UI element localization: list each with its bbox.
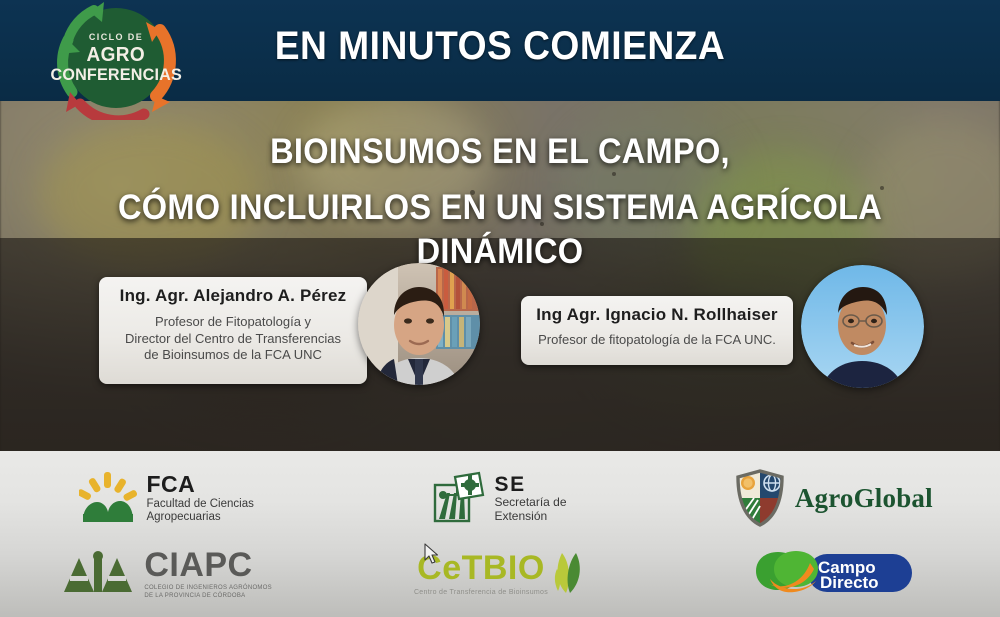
sponsor-secretaria-extension: SE Secretaría de Extensión bbox=[333, 462, 666, 534]
agro-conferencias-logo: CICLO DE AGRO CONFERENCIAS bbox=[28, 0, 204, 120]
svg-text:Directo: Directo bbox=[820, 573, 879, 592]
se-name: SE bbox=[494, 473, 566, 497]
ciapc-name: CIAPC bbox=[144, 546, 272, 584]
speaker-2-role: Profesor de fitopatología de la FCA UNC. bbox=[521, 332, 793, 349]
mouse-cursor bbox=[424, 543, 440, 570]
speaker-1-role-line-2: Director del Centro de Transferencias bbox=[99, 331, 367, 348]
fca-name: FCA bbox=[146, 472, 253, 498]
se-field-puzzle-icon bbox=[433, 471, 485, 525]
sponsor-cetbio: CeTBIO Centro de Transferencia de Bioins… bbox=[333, 542, 666, 604]
arrow-cursor-icon bbox=[424, 543, 440, 565]
speaker-2-avatar bbox=[801, 265, 924, 388]
speaker-1-role: Profesor de Fitopatología y Director del… bbox=[99, 314, 367, 364]
speaker-1-name: Ing. Agr. Alejandro A. Pérez bbox=[99, 286, 367, 306]
ciapc-triangles-icon bbox=[61, 550, 135, 596]
sponsor-campo-directo: Campo Directo bbox=[667, 542, 1000, 604]
speaker-2-name: Ing Agr. Ignacio N. Rollhaiser bbox=[521, 305, 793, 325]
speaker-1-role-line-3: de Bioinsumos de la FCA UNC bbox=[99, 347, 367, 364]
cetbio-sub-1: Centro de Transferencia de Bioinsumos bbox=[414, 589, 548, 597]
title-line-2: CÓMO INCLUIRLOS EN UN SISTEMA AGRÍCOLA D… bbox=[35, 186, 965, 274]
ciapc-sub-1: COLEGIO DE INGENIEROS AGRÓNOMOS bbox=[144, 585, 272, 592]
title-line-1: BIOINSUMOS EN EL CAMPO, bbox=[35, 130, 965, 174]
campo-directo-logo-icon: Campo Directo bbox=[750, 549, 916, 597]
se-sub-1: Secretaría de bbox=[494, 496, 566, 509]
fca-sun-hills-icon bbox=[79, 470, 137, 526]
ciapc-sub-2: DE LA PROVINCIA DE CÓRDOBA bbox=[144, 593, 272, 600]
sponsor-fca: FCA Facultad de Ciencias Agropecuarias bbox=[0, 462, 333, 534]
cetbio-leaf-icon bbox=[552, 551, 586, 595]
speaker-card-1: Ing. Agr. Alejandro A. Pérez Profesor de… bbox=[99, 277, 367, 384]
agroglobal-name: AgroGlobal bbox=[795, 483, 933, 513]
logo-circle-arrows-icon bbox=[28, 0, 204, 120]
sponsor-ciapc: CIAPC COLEGIO DE INGENIEROS AGRÓNOMOS DE… bbox=[0, 542, 333, 604]
fca-sub-2: Agropecuarias bbox=[146, 511, 253, 524]
speaker-2-role-line-1: Profesor de fitopatología de la FCA UNC. bbox=[521, 332, 793, 349]
presentation-title: BIOINSUMOS EN EL CAMPO, CÓMO INCLUIRLOS … bbox=[0, 130, 1000, 273]
speaker-card-2: Ing Agr. Ignacio N. Rollhaiser Profesor … bbox=[521, 296, 793, 365]
fca-sub-1: Facultad de Ciencias bbox=[146, 498, 253, 511]
sponsor-agroglobal: AgroGlobal bbox=[667, 462, 1000, 534]
speaker-1-role-line-1: Profesor de Fitopatología y bbox=[99, 314, 367, 331]
se-sub-2: Extensión bbox=[494, 510, 566, 523]
speaker-1-avatar bbox=[358, 263, 480, 385]
agroglobal-shield-icon bbox=[734, 468, 786, 528]
video-stream-frame: EN MINUTOS COMIENZA CICLO DE AGRO CONFER… bbox=[0, 0, 1000, 617]
